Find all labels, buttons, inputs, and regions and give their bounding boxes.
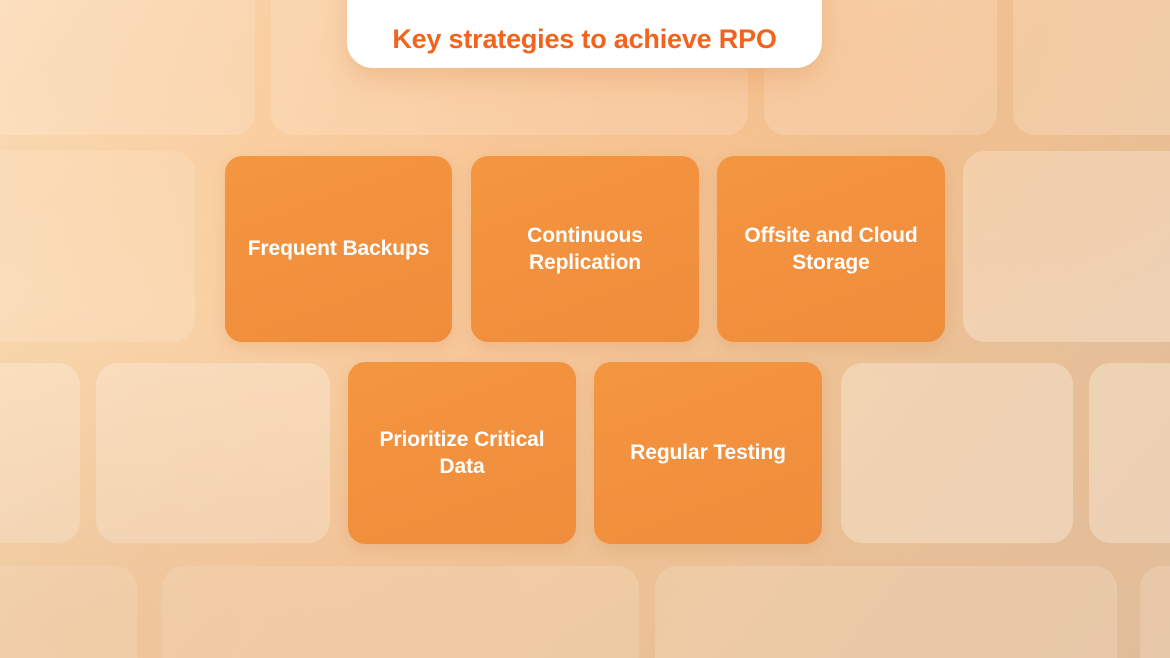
background-shape-7 (96, 363, 330, 543)
background-shape-9 (1089, 363, 1170, 543)
background-shape-10 (0, 566, 137, 658)
strategy-card-label: Frequent Backups (248, 235, 430, 262)
strategy-card-offsite-and-cloud-storage[interactable]: Offsite and Cloud Storage (717, 156, 945, 342)
strategy-card-label: Continuous Replication (527, 222, 643, 277)
strategy-card-frequent-backups[interactable]: Frequent Backups (225, 156, 452, 342)
background-shape-11 (162, 566, 639, 658)
background-shape-12 (655, 566, 1117, 658)
background-shape-3 (1013, 0, 1170, 135)
page-title: Key strategies to achieve RPO (392, 25, 776, 55)
background-shape-4 (0, 151, 195, 342)
background-shape-0 (0, 0, 255, 135)
title-card: Key strategies to achieve RPO (347, 0, 822, 68)
slide-canvas: Key strategies to achieve RPO Frequent B… (0, 0, 1170, 658)
background-shape-5 (963, 151, 1170, 342)
strategy-card-regular-testing[interactable]: Regular Testing (594, 362, 822, 544)
background-shape-13 (1140, 566, 1170, 658)
background-shape-8 (841, 363, 1073, 543)
strategy-card-label: Regular Testing (630, 439, 786, 466)
background-shape-6 (0, 363, 80, 543)
strategy-card-prioritize-critical-data[interactable]: Prioritize Critical Data (348, 362, 576, 544)
strategy-card-continuous-replication[interactable]: Continuous Replication (471, 156, 699, 342)
strategy-card-label: Offsite and Cloud Storage (744, 222, 917, 277)
strategy-card-label: Prioritize Critical Data (380, 426, 545, 481)
